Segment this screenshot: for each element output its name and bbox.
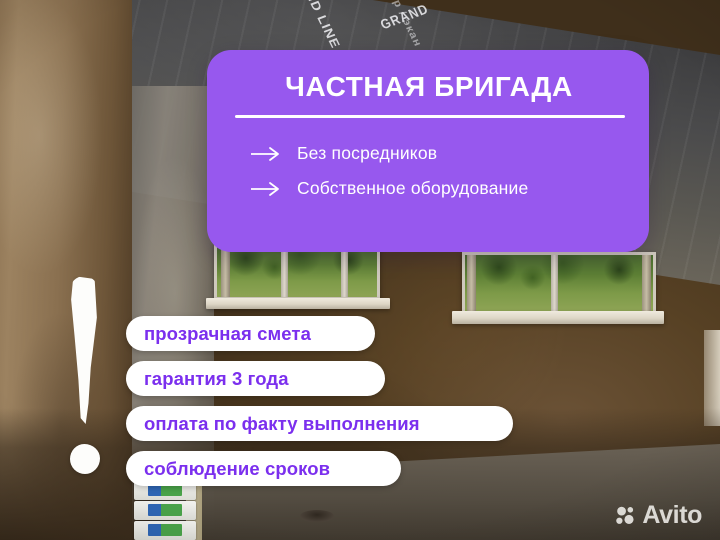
arrow-right-icon	[251, 181, 281, 197]
material-bag	[134, 521, 196, 540]
feature-pill: гарантия 3 года	[126, 361, 385, 396]
floor-drain	[300, 510, 334, 522]
card-bullet-list: Без посредников Собственное оборудование	[235, 138, 623, 204]
membrane-brand-text-2: Эфир / экан	[378, 0, 424, 49]
arrow-right-icon	[251, 146, 281, 162]
window-mullion	[551, 255, 558, 311]
material-bags	[134, 478, 200, 540]
feature-pill-label: прозрачная смета	[144, 323, 311, 345]
card-bullet-item: Без посредников	[235, 138, 623, 169]
window-mullion	[281, 247, 288, 297]
card-bullet-item: Собственное оборудование	[235, 173, 623, 204]
window-sill-center	[206, 298, 390, 309]
window-center	[214, 244, 380, 300]
exclamation-mark-icon	[66, 276, 112, 476]
avito-watermark: Avito	[615, 503, 702, 528]
window-mullion	[341, 247, 348, 297]
feature-pill: соблюдение сроков	[126, 451, 401, 486]
membrane-brand-text-1: GRAND LINE	[287, 0, 343, 50]
feature-pill-label: гарантия 3 года	[144, 368, 289, 390]
exclamation-dot	[70, 444, 100, 474]
feature-pill-label: соблюдение сроков	[144, 458, 330, 480]
window-foliage	[465, 255, 653, 311]
card-divider	[235, 115, 625, 118]
window-right	[462, 252, 656, 314]
window-sill-right	[452, 311, 664, 324]
membrane-brand-text-3: GRAND	[378, 1, 432, 33]
headline-card: ЧАСТНАЯ БРИГАДА Без посредников Собствен…	[207, 50, 649, 252]
exclamation-stem	[70, 276, 98, 424]
window-foliage	[217, 247, 377, 297]
card-bullet-label: Без посредников	[297, 143, 437, 164]
material-bag	[134, 501, 196, 520]
window-frame-post	[642, 255, 651, 311]
avito-wordmark: Avito	[642, 503, 702, 528]
feature-pill: оплата по факту выполнения	[126, 406, 513, 441]
window-frame-post	[467, 255, 476, 311]
feature-pill: прозрачная смета	[126, 316, 375, 351]
feature-pill-label: оплата по факту выполнения	[144, 413, 420, 435]
window-frame-post	[221, 247, 230, 297]
card-bullet-label: Собственное оборудование	[297, 178, 528, 199]
card-title: ЧАСТНАЯ БРИГАДА	[235, 72, 623, 101]
avito-dots-icon	[615, 505, 636, 526]
poster-canvas: GRAND LINE Эфир / экан GRAND	[0, 0, 720, 540]
